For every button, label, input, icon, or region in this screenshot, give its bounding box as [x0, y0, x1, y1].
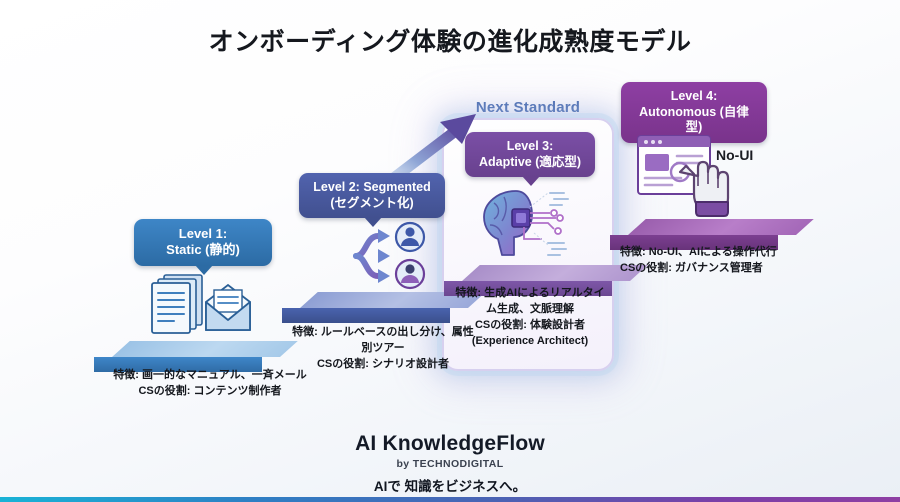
footer-branding: AI KnowledgeFlow by TECHNODIGITAL AIで 知識… [0, 432, 900, 495]
brand-tagline: AIで 知識をビジネスへ。 [0, 475, 900, 495]
bottom-accent-bar [0, 497, 900, 502]
documents-icon [152, 275, 202, 333]
level-2-feature-text: ルールベースの出し分け、属性別ツアー [321, 326, 474, 354]
level-4-role-text: ガバナンス管理者 [675, 262, 763, 274]
user-avatar-icon [396, 223, 424, 251]
level-2-feature-label: 特徴: [292, 326, 318, 338]
brand-name: AI KnowledgeFlow [0, 432, 900, 456]
level-1-bubble[interactable]: Level 1: Static (静的) [134, 219, 272, 266]
level-4-caption: 特徴: No-UI、AIによる操作代行 CSの役割: ガバナンス管理者 [620, 245, 820, 277]
branch-arrows-icon [356, 236, 378, 276]
level-2-role-text: シナリオ設計者 [372, 358, 449, 370]
level-2-bubble[interactable]: Level 2: Segmented (セグメント化) [299, 173, 445, 218]
level-2-caption: 特徴: ルールベースの出し分け、属性別ツアー CSの役割: シナリオ設計者 [292, 325, 474, 373]
level-2-role-label: CSの役割: [317, 358, 369, 370]
level-1-feature-label: 特徴: [113, 369, 139, 381]
level-3-role-label: CSの役割: [475, 319, 527, 331]
level-3-subtitle: Adaptive (適応型) [477, 155, 583, 171]
level-1-title: Level 1: [146, 226, 260, 242]
brand-byline: by TECHNODIGITAL [0, 458, 900, 470]
level-1-caption: 特徴: 画一的なマニュアル、一斉メール CSの役割: コンテンツ制作者 [110, 368, 310, 400]
level-3-icon-group [468, 181, 588, 268]
diagram-canvas: オンボーディング体験の進化成熟度モデル Next Standard [0, 0, 900, 502]
level-3-feature-text: 生成AIによるリアルタイム生成、文脈理解 [484, 287, 605, 315]
ai-brain-chip-icon [484, 191, 568, 255]
level-3-role-text: 体験設計者 [530, 319, 585, 331]
level-2-subtitle: (セグメント化) [311, 196, 433, 212]
level-3-title: Level 3: [477, 139, 583, 155]
level-3-bubble[interactable]: Level 3: Adaptive (適応型) [465, 132, 595, 177]
page-title: オンボーディング体験の進化成熟度モデル [0, 22, 900, 58]
no-ui-badge: No-UI [716, 147, 753, 163]
user-avatar-icon [396, 260, 424, 288]
level-4-role-label: CSの役割: [620, 262, 672, 274]
level-4-title: Level 4: [633, 89, 755, 105]
level-1-icon-group [148, 272, 266, 353]
level-2-icon-group [348, 220, 444, 297]
level-4-feature-label: 特徴: [620, 246, 646, 258]
level-3-feature-label: 特徴: [455, 287, 481, 299]
level-1-role-text: コンテンツ制作者 [194, 385, 282, 397]
level-2-title: Level 2: Segmented [311, 180, 433, 196]
envelope-icon [206, 285, 250, 330]
level-1-role-label: CSの役割: [138, 385, 190, 397]
level-3-caption: 特徴: 生成AIによるリアルタイム生成、文脈理解 CSの役割: 体験設計者 (E… [455, 286, 605, 350]
level-1-subtitle: Static (静的) [146, 242, 260, 258]
level-4-feature-text: No-UI、AIによる操作代行 [649, 246, 777, 258]
level-3-role-sub: (Experience Architect) [455, 334, 605, 350]
level-1-feature-text: 画一的なマニュアル、一斉メール [142, 369, 307, 381]
